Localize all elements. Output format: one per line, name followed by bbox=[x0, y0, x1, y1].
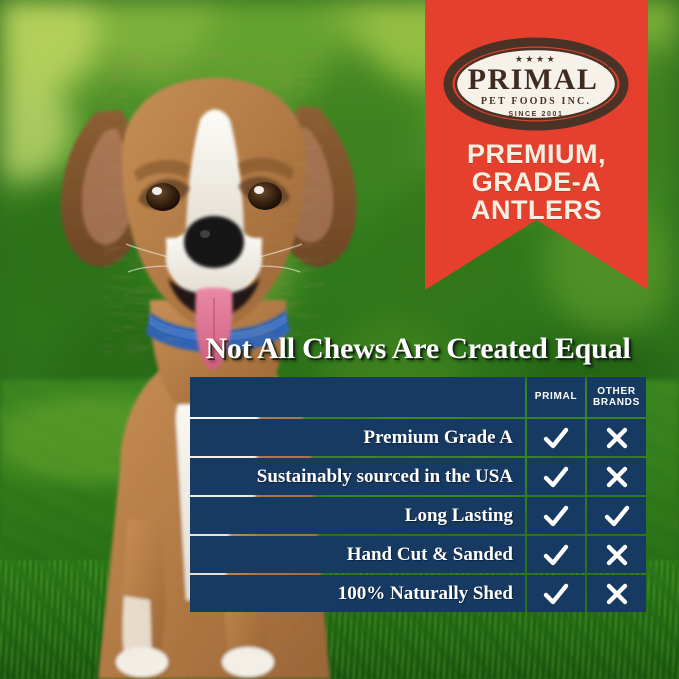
cross-icon bbox=[602, 423, 632, 453]
header-other-label-line2: BRANDS bbox=[593, 397, 640, 408]
tagline-line-3: ANTLERS bbox=[425, 196, 648, 224]
product-marketing-image: ★★★★ PRIMAL ™ PET FOODS INC. SINCE 2001 … bbox=[0, 0, 679, 679]
cross-icon bbox=[602, 579, 632, 609]
table-row: Sustainably sourced in the USA bbox=[190, 458, 646, 495]
header-other-label-line1: OTHER bbox=[597, 386, 636, 397]
row-other-value bbox=[587, 575, 646, 612]
row-feature-label: 100% Naturally Shed bbox=[190, 575, 525, 612]
header-feature-cell bbox=[190, 377, 525, 417]
cross-icon bbox=[602, 540, 632, 570]
tagline-line-1: PREMIUM, bbox=[425, 140, 648, 168]
table-row: 100% Naturally Shed bbox=[190, 575, 646, 612]
row-other-value bbox=[587, 458, 646, 495]
cross-icon bbox=[602, 462, 632, 492]
row-feature-label: Hand Cut & Sanded bbox=[190, 536, 525, 573]
row-primal-value bbox=[527, 497, 585, 534]
header-primal-cell: PRIMAL bbox=[527, 377, 585, 417]
row-other-value bbox=[587, 536, 646, 573]
banner-tagline: PREMIUM, GRADE-A ANTLERS bbox=[425, 140, 648, 224]
tagline-line-2: GRADE-A bbox=[425, 168, 648, 196]
row-primal-value bbox=[527, 419, 585, 456]
row-primal-value bbox=[527, 575, 585, 612]
header-other-cell: OTHER BRANDS bbox=[587, 377, 646, 417]
logo-subtitle: PET FOODS INC. bbox=[481, 96, 591, 107]
row-feature-label: Premium Grade A bbox=[190, 419, 525, 456]
table-row: Hand Cut & Sanded bbox=[190, 536, 646, 573]
row-primal-value bbox=[527, 536, 585, 573]
check-icon bbox=[541, 579, 571, 609]
logo-since: SINCE 2001 bbox=[509, 111, 564, 118]
header-primal-label: PRIMAL bbox=[535, 391, 578, 402]
table-row: Long Lasting bbox=[190, 497, 646, 534]
row-other-value bbox=[587, 497, 646, 534]
check-icon bbox=[541, 540, 571, 570]
table-row: Premium Grade A bbox=[190, 419, 646, 456]
comparison-table: PRIMAL OTHER BRANDS Premium Grade A Sust… bbox=[190, 377, 646, 614]
row-feature-label: Sustainably sourced in the USA bbox=[190, 458, 525, 495]
logo-brand: PRIMAL bbox=[468, 63, 599, 96]
check-icon bbox=[541, 423, 571, 453]
logo-tm: ™ bbox=[603, 65, 610, 72]
check-icon bbox=[541, 462, 571, 492]
check-icon bbox=[541, 501, 571, 531]
primal-logo: ★★★★ PRIMAL ™ PET FOODS INC. SINCE 2001 bbox=[440, 34, 632, 134]
check-icon bbox=[602, 501, 632, 531]
page-title: Not All Chews Are Created Equal bbox=[190, 334, 646, 364]
row-feature-label: Long Lasting bbox=[190, 497, 525, 534]
table-header-row: PRIMAL OTHER BRANDS bbox=[190, 377, 646, 417]
row-primal-value bbox=[527, 458, 585, 495]
row-other-value bbox=[587, 419, 646, 456]
